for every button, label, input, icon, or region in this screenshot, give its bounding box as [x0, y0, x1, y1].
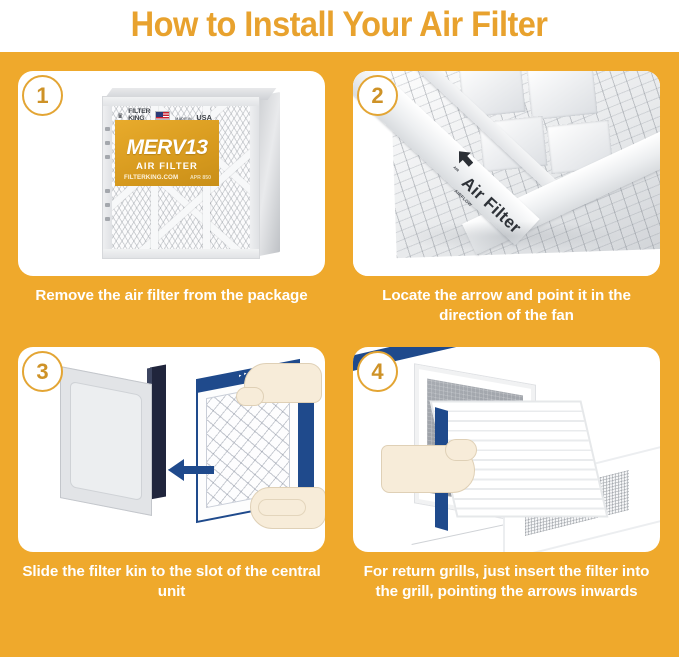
slide-filter-illustration: ‣‣: [18, 347, 325, 552]
filter-brand-row: ♛ FILTER KING MADE IN USA: [117, 109, 217, 122]
country-text: USA: [196, 113, 212, 122]
step-4-number-badge: 4: [357, 351, 398, 392]
step-1: MERV13 AIR FILTER FILTERKING.COM APR 850…: [18, 71, 325, 306]
thumb-upper: [236, 387, 264, 406]
step-4-number: 4: [371, 361, 383, 383]
step-2-number: 2: [371, 85, 383, 107]
step-1-card: MERV13 AIR FILTER FILTERKING.COM APR 850…: [18, 71, 325, 276]
page-title: How to Install Your Air Filter: [131, 7, 548, 45]
filter-front-face: MERV13 AIR FILTER FILTERKING.COM APR 850…: [102, 96, 260, 259]
apr-rating-text: APR 850: [190, 175, 211, 181]
filter-product-label: MERV13 AIR FILTER FILTERKING.COM APR 850: [115, 120, 219, 186]
merv-rating-text: MERV13: [115, 136, 219, 160]
step-4: ‣‣ 4 For return grills, just insert the …: [353, 347, 660, 602]
brand-website-text: FILTERKING.COM: [124, 174, 178, 181]
filter-frame-bottom: [103, 249, 259, 258]
made-in-text: MADE IN: [175, 117, 192, 121]
step-3-number-badge: 3: [22, 351, 63, 392]
filter-depth-face: [259, 92, 280, 256]
step-3-card: ‣‣ 3: [18, 347, 325, 552]
finger: [445, 439, 477, 461]
label-footer-row: FILTERKING.COM APR 850: [124, 174, 211, 181]
filter-frame-notch: [105, 127, 110, 131]
step-4-caption: For return grills, just insert the filte…: [353, 562, 660, 602]
brand-line-2: KING: [128, 115, 144, 122]
airflow-arrow-icon: [457, 149, 473, 167]
direction-arrow-icon: [168, 457, 214, 483]
return-grill-illustration: ‣‣: [353, 347, 660, 552]
crown-icon: ♛: [117, 112, 123, 120]
step-3-number: 3: [36, 361, 48, 383]
step-1-number-badge: 1: [22, 75, 63, 116]
filter-frame-right: [250, 97, 259, 258]
step-1-caption: Remove the air filter from the package: [18, 286, 325, 306]
brand-name-text: FILTER KING: [128, 109, 150, 122]
pleat-cell: [526, 71, 597, 120]
step-2-caption: Locate the arrow and point it in the dir…: [353, 286, 660, 326]
how-to-install-air-filter-infographic: How to Install Your Air Filter: [0, 0, 679, 657]
filter-frame-left: [103, 97, 112, 258]
step-4-card: ‣‣ 4: [353, 347, 660, 552]
step-3: ‣‣ 3 Slide the filter kin to the slot of…: [18, 347, 325, 602]
slot-dark-side: [150, 364, 166, 499]
step-2: AIR Air Filter AIRFLOW 2 Locate the arro…: [353, 71, 660, 326]
us-flag-icon: [155, 111, 170, 120]
step-1-number: 1: [36, 85, 48, 107]
slot-front-face: [60, 366, 152, 516]
step-3-caption: Slide the filter kin to the slot of the …: [18, 562, 325, 602]
filter-frame-notch: [105, 203, 110, 207]
made-in-usa-text: MADE IN USA: [175, 107, 212, 125]
central-unit-slot: [60, 365, 166, 511]
filter-frame-top: [103, 97, 259, 106]
header: How to Install Your Air Filter: [0, 0, 679, 52]
step-2-card: AIR Air Filter AIRFLOW 2: [353, 71, 660, 276]
slot-inner-panel: [70, 381, 142, 501]
filter-corner-closeup-image: AIR Air Filter AIRFLOW: [353, 71, 660, 276]
filter-frame-notch: [105, 141, 110, 145]
filter-frame-notch: [105, 155, 110, 159]
finger-crease-lower: [258, 499, 306, 516]
filter-frame-notch: [105, 217, 110, 221]
steps-grid: MERV13 AIR FILTER FILTERKING.COM APR 850…: [0, 52, 679, 657]
step-2-number-badge: 2: [357, 75, 398, 116]
filter-frame-notch: [105, 189, 110, 193]
label-subtitle-text: AIR FILTER: [115, 160, 219, 171]
steps-board: MERV13 AIR FILTER FILTERKING.COM APR 850…: [0, 52, 679, 657]
boxed-air-filter-image: MERV13 AIR FILTER FILTERKING.COM APR 850…: [102, 86, 280, 262]
